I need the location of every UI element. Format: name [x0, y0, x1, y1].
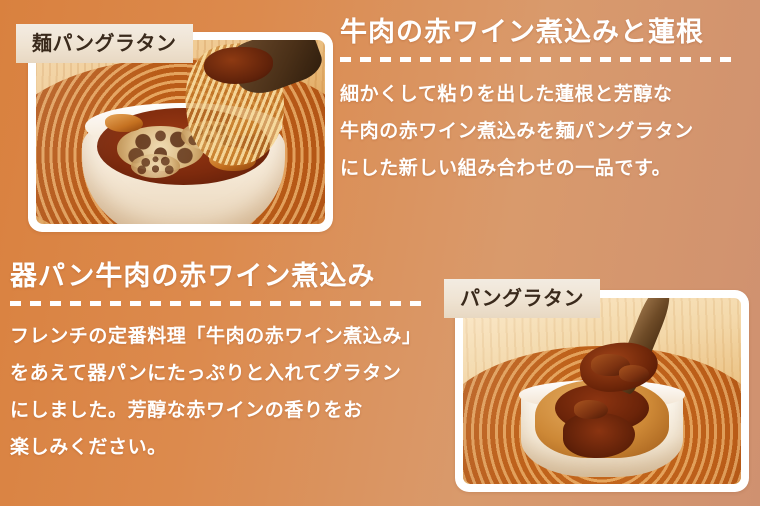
photo-noodle-gratin — [36, 40, 325, 224]
badge-bread-gratin: パングラタン — [444, 279, 600, 318]
top-text-block: 牛肉の赤ワイン煮込みと蓮根 細かくして粘りを出した蓮根と芳醇な 牛肉の赤ワイン煮… — [340, 18, 750, 187]
bottom-text-block: 器パン牛肉の赤ワイン煮込み フレンチの定番料理「牛肉の赤ワイン煮込み」 をあえて… — [10, 262, 450, 466]
bottom-section-body: フレンチの定番料理「牛肉の赤ワイン煮込み」 をあえて器パンにたっぷりと入れてグラ… — [10, 318, 450, 466]
bottom-section-title: 器パン牛肉の赤ワイン煮込み — [10, 262, 450, 292]
bottom-dashed-divider — [10, 301, 428, 306]
top-section-body: 細かくして粘りを出した蓮根と芳醇な 牛肉の赤ワイン煮込みを麺パングラタン にした… — [340, 76, 750, 187]
bottom-body-line-3: にしました。芳醇な赤ワインの香りをお — [10, 392, 450, 429]
top-body-line-2: 牛肉の赤ワイン煮込みを麺パングラタン — [340, 113, 750, 150]
bottom-body-line-2: をあえて器パンにたっぷりと入れてグラタン — [10, 355, 450, 392]
photo-beef-chunk — [619, 365, 650, 382]
top-section-title: 牛肉の赤ワイン煮込みと蓮根 — [340, 18, 750, 48]
photo-frame-bread-gratin — [455, 290, 749, 492]
photo-beef-chunk — [105, 114, 143, 132]
promo-banner: 麺パングラタン 牛肉の赤ワイン煮込みと蓮根 細かくして粘りを出した蓮根と芳醇な … — [0, 0, 760, 506]
photo-bread-gratin — [463, 298, 741, 484]
bottom-body-line-4: 楽しみください。 — [10, 429, 450, 466]
top-body-line-1: 細かくして粘りを出した蓮根と芳醇な — [340, 76, 750, 113]
top-body-line-3: にした新しい組み合わせの一品です。 — [340, 150, 750, 187]
top-dashed-divider — [340, 57, 740, 62]
photo-beef-chunk — [574, 400, 607, 419]
badge-noodle-gratin: 麺パングラタン — [16, 24, 193, 63]
bottom-body-line-1: フレンチの定番料理「牛肉の赤ワイン煮込み」 — [10, 318, 450, 355]
